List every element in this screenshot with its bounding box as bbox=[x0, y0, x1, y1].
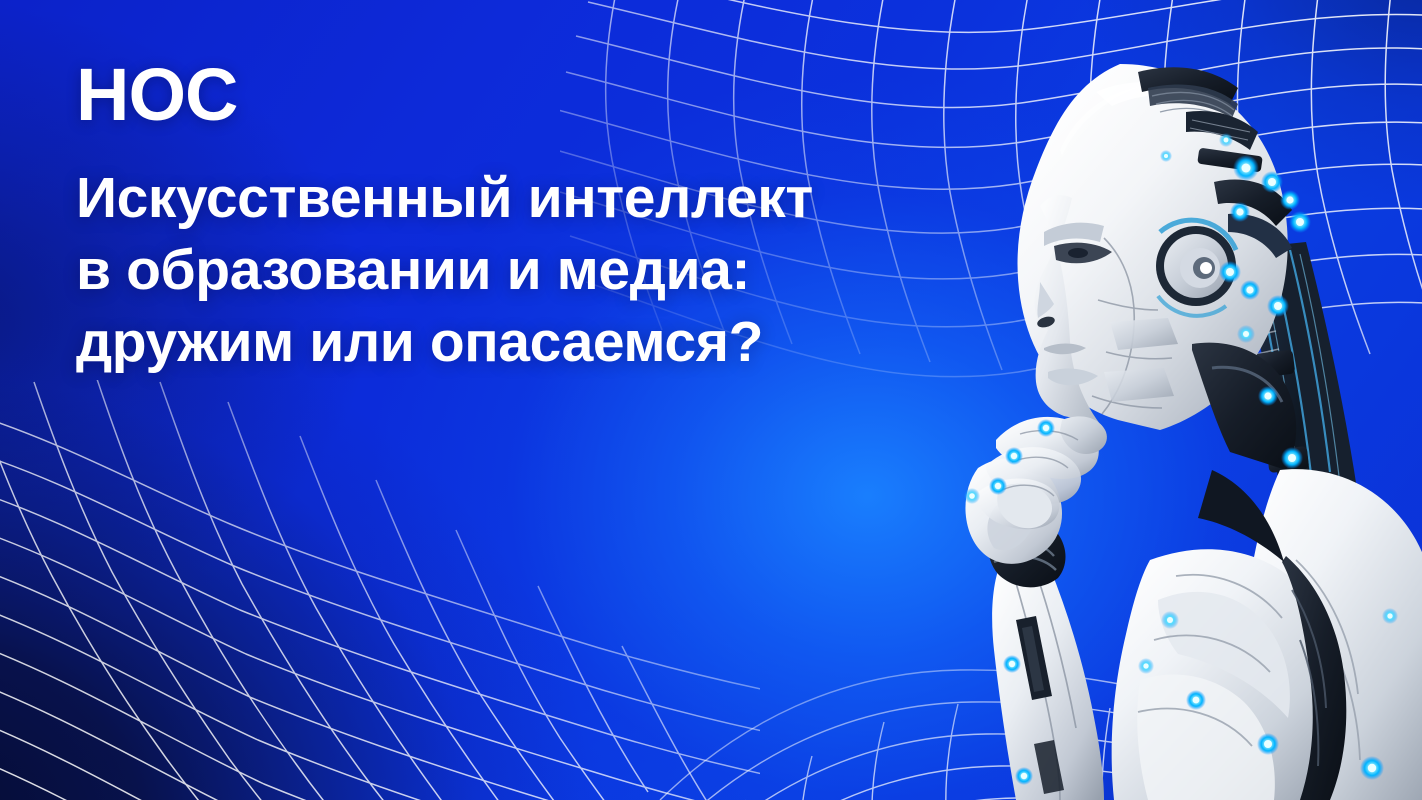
brand-logo: НОС bbox=[76, 58, 976, 132]
page-title: Искусственный интеллект в образовании и … bbox=[76, 162, 976, 378]
slide-text-content: НОС Искусственный интеллект в образовани… bbox=[76, 58, 976, 378]
presentation-slide: НОС Искусственный интеллект в образовани… bbox=[0, 0, 1422, 800]
headline-line-2: в образовании и медиа: bbox=[76, 234, 976, 306]
headline-line-1: Искусственный интеллект bbox=[76, 162, 976, 234]
headline-line-3: дружим или опасаемся? bbox=[76, 306, 976, 378]
